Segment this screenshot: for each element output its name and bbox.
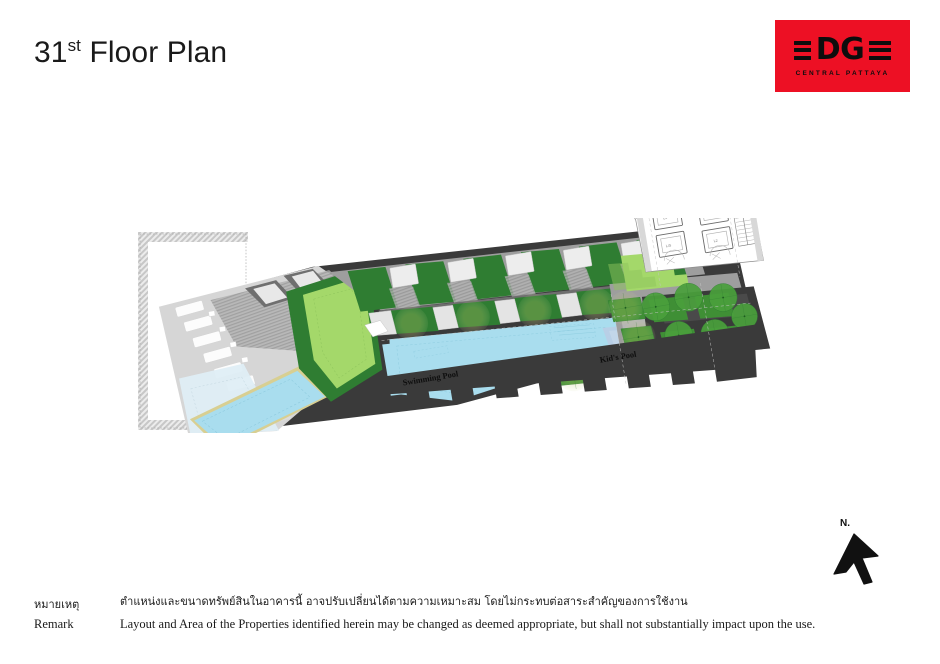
brand-tagline: CENTRAL PATTAYA — [796, 70, 890, 77]
remark-text-english: Layout and Area of the Properties identi… — [120, 617, 815, 633]
page-title-text: Floor Plan — [81, 36, 227, 69]
floor-plan-drawing: L3 L/S L1 L2 — [130, 218, 790, 433]
plan-body: L3 L/S L1 L2 — [153, 218, 790, 433]
plan-content: L3 L/S L1 L2 — [138, 218, 790, 433]
remark-text-thai: ตำแหน่งและขนาดทรัพย์สินในอาคารนี้ อาจปรั… — [120, 595, 688, 609]
north-label: N. — [840, 518, 850, 529]
north-arrow-icon — [828, 518, 898, 594]
lift-label-l2: L2 — [713, 239, 718, 244]
remark-row-thai: หมายเหตุ ตำแหน่งและขนาดทรัพย์สินในอาคารน… — [34, 595, 914, 613]
logo-dg-letters: DG — [816, 36, 865, 64]
logo-e-left-icon — [794, 41, 811, 60]
page-title-number: 31 — [34, 36, 68, 69]
page-title-ordinal-suffix: st — [68, 36, 81, 55]
brand-logo: DG CENTRAL PATTAYA — [775, 20, 910, 92]
floor-plan-svg: L3 L/S L1 L2 — [130, 218, 790, 433]
north-arrow: N. — [828, 518, 898, 594]
remark-key-thai: หมายเหตุ — [34, 595, 120, 613]
footer-remarks: หมายเหตุ ตำแหน่งและขนาดทรัพย์สินในอาคารน… — [34, 595, 914, 637]
brand-logo-wordmark: DG — [794, 35, 892, 65]
remark-row-english: Remark Layout and Area of the Properties… — [34, 617, 914, 633]
logo-e-right-icon — [869, 41, 891, 60]
remark-key-english: Remark — [34, 617, 120, 632]
page-title: 31st Floor Plan — [34, 36, 227, 70]
